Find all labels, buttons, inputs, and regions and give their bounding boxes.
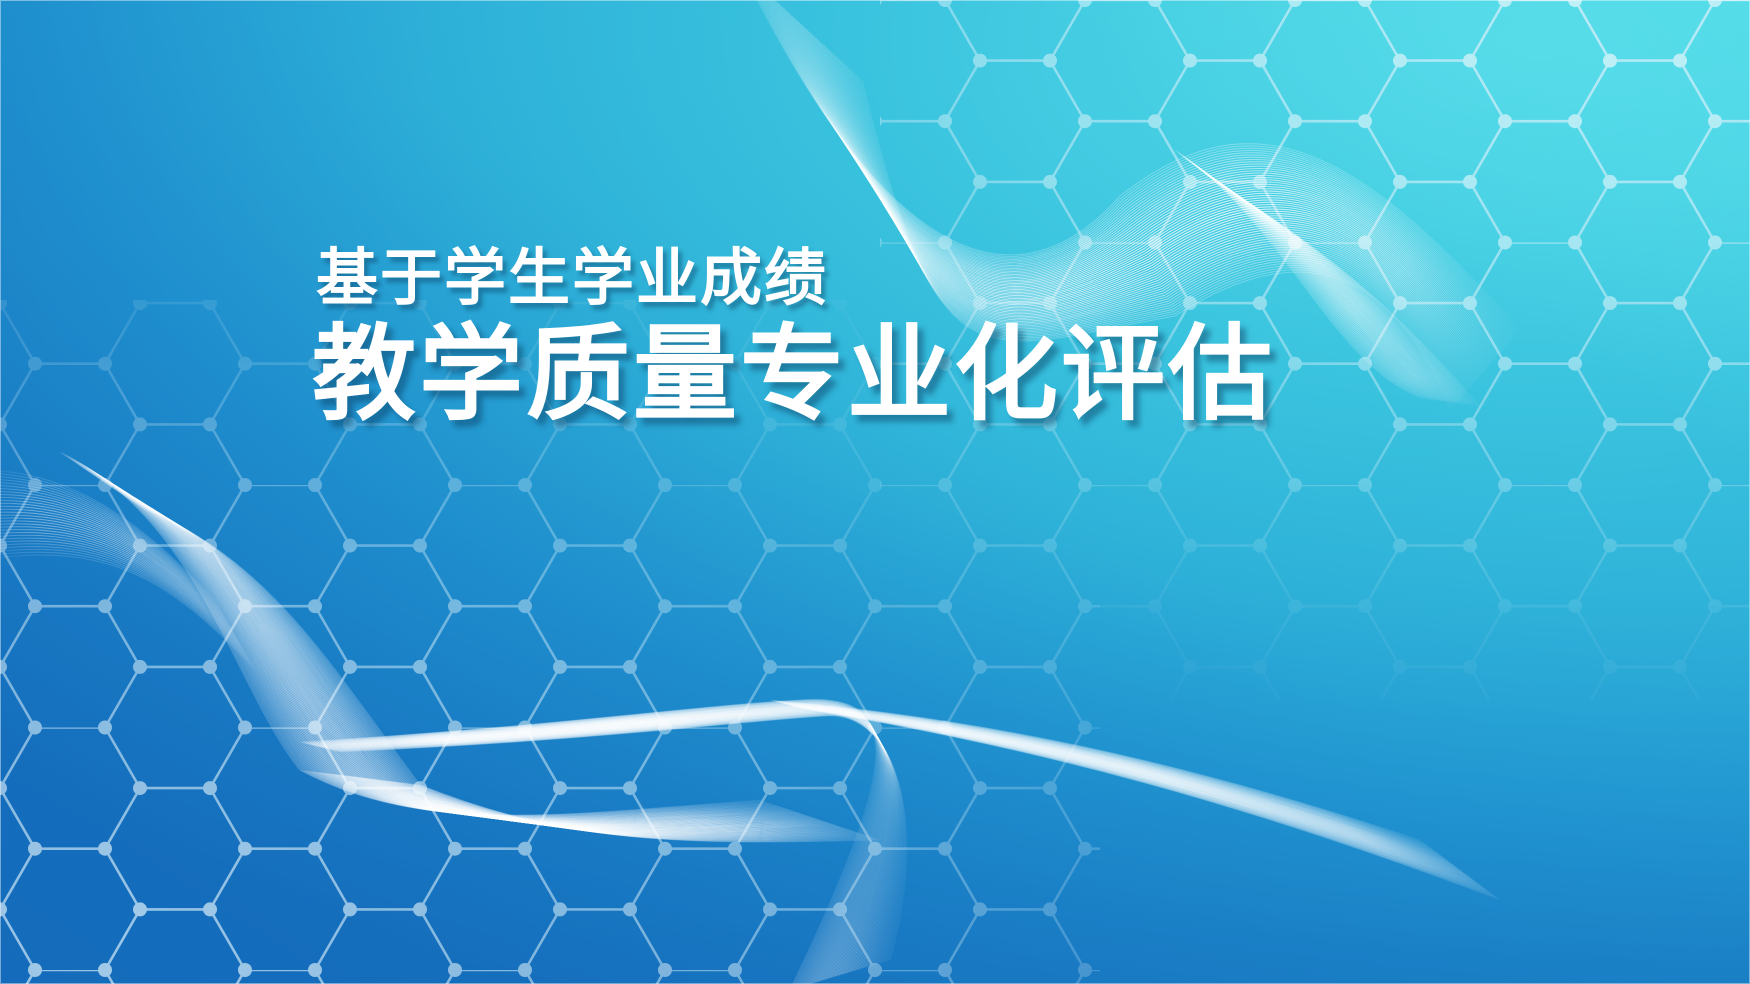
title-text-block: 基于学生学业成绩 教学质量专业化评估 (312, 244, 1275, 432)
slide-subtitle: 基于学生学业成绩 (316, 244, 1275, 313)
presentation-title-slide: ribbon strands generated below 基于学生学业成绩 … (0, 0, 1750, 984)
hexagon-molecular-lattice (0, 0, 1750, 984)
slide-title: 教学质量专业化评估 (312, 319, 1275, 431)
